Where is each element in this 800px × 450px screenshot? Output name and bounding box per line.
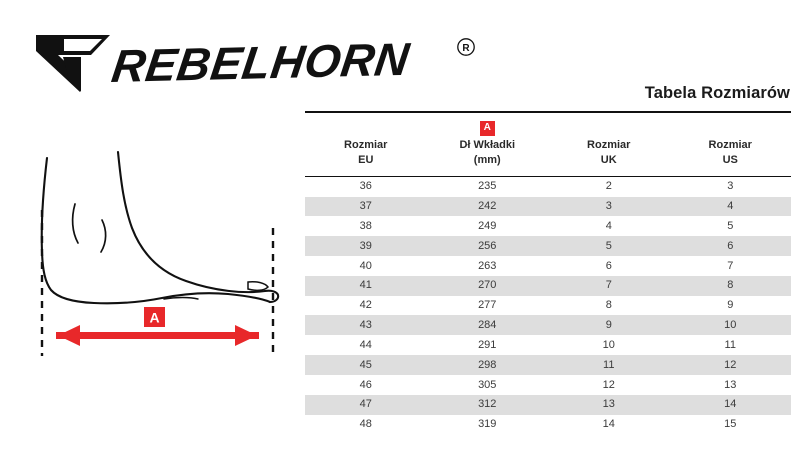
cell-size-us: 4 bbox=[670, 197, 792, 217]
cell-insole-length-mm: 305 bbox=[427, 375, 549, 395]
cell-size-eu: 46 bbox=[305, 375, 427, 395]
cell-insole-length-mm: 270 bbox=[427, 276, 549, 296]
column-header-uk-line2: UK bbox=[548, 153, 670, 168]
cell-size-eu: 43 bbox=[305, 315, 427, 335]
cell-size-eu: 45 bbox=[305, 355, 427, 375]
cell-size-us: 8 bbox=[670, 276, 792, 296]
cell-insole-length-mm: 319 bbox=[427, 415, 549, 435]
column-header-eu-line2: EU bbox=[305, 153, 427, 168]
table-row: 3724234 bbox=[305, 197, 791, 217]
table-row: 3925656 bbox=[305, 236, 791, 256]
size-table-head: Rozmiar EU A Dł Wkładki (mm) Rozmiar bbox=[305, 112, 791, 176]
column-header-insole-line2: (mm) bbox=[427, 153, 549, 168]
column-header-eu: Rozmiar EU bbox=[305, 112, 427, 176]
cell-size-uk: 8 bbox=[548, 296, 670, 316]
table-row: 3623523 bbox=[305, 176, 791, 196]
cell-size-uk: 4 bbox=[548, 216, 670, 236]
cell-insole-length-mm: 277 bbox=[427, 296, 549, 316]
cell-size-uk: 13 bbox=[548, 395, 670, 415]
foot-outline-path bbox=[42, 152, 278, 303]
column-header-insole-line1: Dł Wkładki bbox=[427, 138, 549, 153]
cell-insole-length-mm: 312 bbox=[427, 395, 549, 415]
size-table-block: Tabela Rozmiarów Rozmiar EU A Dł Wkładki… bbox=[305, 84, 791, 434]
cell-insole-length-mm: 235 bbox=[427, 176, 549, 196]
table-row: 463051213 bbox=[305, 375, 791, 395]
cell-insole-length-mm: 242 bbox=[427, 197, 549, 217]
page-title: Tabela Rozmiarów bbox=[305, 84, 791, 103]
foot-measurement-diagram: A bbox=[14, 142, 302, 370]
measurement-arrow bbox=[56, 325, 259, 346]
rebelhorn-r-mark-icon bbox=[36, 35, 110, 92]
measure-label-badge: A bbox=[144, 307, 165, 327]
cell-insole-length-mm: 291 bbox=[427, 335, 549, 355]
cell-size-us: 9 bbox=[670, 296, 792, 316]
table-row: 483191415 bbox=[305, 415, 791, 435]
insole-a-badge: A bbox=[480, 121, 495, 137]
cell-insole-length-mm: 298 bbox=[427, 355, 549, 375]
table-row: 4227789 bbox=[305, 296, 791, 316]
size-table-header-row: Rozmiar EU A Dł Wkładki (mm) Rozmiar bbox=[305, 112, 791, 176]
cell-size-eu: 40 bbox=[305, 256, 427, 276]
cell-size-eu: 42 bbox=[305, 296, 427, 316]
measure-label-text: A bbox=[149, 310, 159, 326]
insole-a-badge-wrap: A bbox=[427, 120, 549, 136]
column-header-us-line1: Rozmiar bbox=[670, 138, 792, 153]
cell-size-uk: 12 bbox=[548, 375, 670, 395]
cell-size-us: 14 bbox=[670, 395, 792, 415]
cell-size-eu: 39 bbox=[305, 236, 427, 256]
cell-size-us: 11 bbox=[670, 335, 792, 355]
cell-insole-length-mm: 284 bbox=[427, 315, 549, 335]
cell-size-us: 12 bbox=[670, 355, 792, 375]
table-row: 4127078 bbox=[305, 276, 791, 296]
ankle-detail-strokes bbox=[73, 204, 106, 252]
cell-size-us: 15 bbox=[670, 415, 792, 435]
cell-insole-length-mm: 256 bbox=[427, 236, 549, 256]
cell-size-eu: 41 bbox=[305, 276, 427, 296]
cell-size-uk: 11 bbox=[548, 355, 670, 375]
cell-size-eu: 37 bbox=[305, 197, 427, 217]
column-header-uk: Rozmiar UK bbox=[548, 112, 670, 176]
column-header-us-line2: US bbox=[670, 153, 792, 168]
cell-size-uk: 9 bbox=[548, 315, 670, 335]
cell-size-uk: 6 bbox=[548, 256, 670, 276]
cell-size-eu: 48 bbox=[305, 415, 427, 435]
cell-size-eu: 38 bbox=[305, 216, 427, 236]
cell-size-us: 7 bbox=[670, 256, 792, 276]
cell-size-uk: 10 bbox=[548, 335, 670, 355]
registered-trademark-letter: R bbox=[462, 43, 470, 54]
table-row: 43284910 bbox=[305, 315, 791, 335]
cell-size-eu: 44 bbox=[305, 335, 427, 355]
cell-size-us: 13 bbox=[670, 375, 792, 395]
cell-size-uk: 7 bbox=[548, 276, 670, 296]
cell-insole-length-mm: 263 bbox=[427, 256, 549, 276]
column-header-us: Rozmiar US bbox=[670, 112, 792, 176]
cell-size-uk: 3 bbox=[548, 197, 670, 217]
table-row: 473121314 bbox=[305, 395, 791, 415]
table-row: 442911011 bbox=[305, 335, 791, 355]
cell-size-eu: 47 bbox=[305, 395, 427, 415]
cell-size-eu: 36 bbox=[305, 176, 427, 196]
cell-insole-length-mm: 249 bbox=[427, 216, 549, 236]
cell-size-us: 10 bbox=[670, 315, 792, 335]
cell-size-uk: 2 bbox=[548, 176, 670, 196]
column-header-eu-line1: Rozmiar bbox=[305, 138, 427, 153]
cell-size-uk: 5 bbox=[548, 236, 670, 256]
table-row: 452981112 bbox=[305, 355, 791, 375]
table-row: 4026367 bbox=[305, 256, 791, 276]
size-table: Rozmiar EU A Dł Wkładki (mm) Rozmiar bbox=[305, 111, 791, 434]
cell-size-uk: 14 bbox=[548, 415, 670, 435]
column-header-insole-length: A Dł Wkładki (mm) bbox=[427, 112, 549, 176]
column-header-uk-line1: Rozmiar bbox=[548, 138, 670, 153]
table-row: 3824945 bbox=[305, 216, 791, 236]
cell-size-us: 5 bbox=[670, 216, 792, 236]
cell-size-us: 6 bbox=[670, 236, 792, 256]
cell-size-us: 3 bbox=[670, 176, 792, 196]
size-table-body: 3623523372423438249453925656402636741270… bbox=[305, 176, 791, 434]
